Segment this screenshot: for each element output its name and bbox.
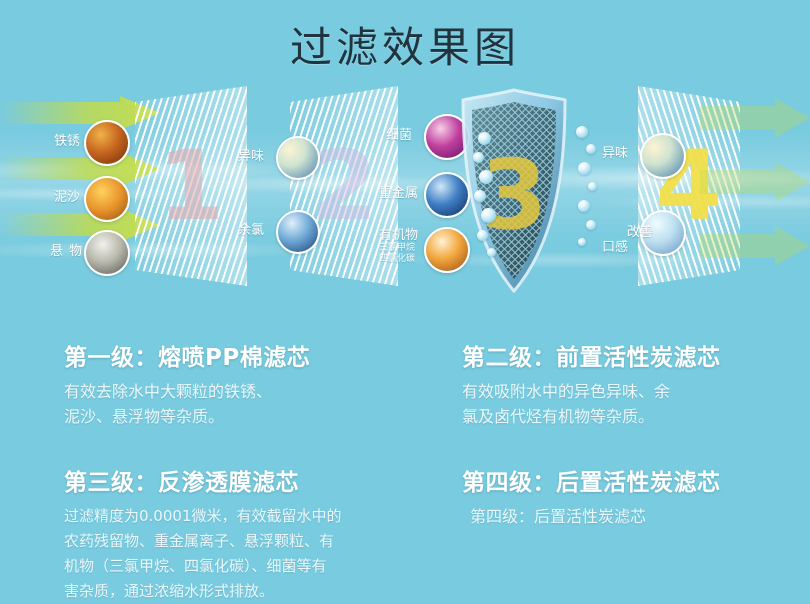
inflow-arrow-2 xyxy=(0,152,160,186)
bubble xyxy=(487,248,496,257)
stage-4-body: 第四级：后置活性炭滤芯 xyxy=(470,504,802,529)
panel-sheen-4 xyxy=(638,86,740,286)
diagram-label-xuanwu: 悬物 xyxy=(50,244,88,259)
diagram-label-text: 改善 口感 xyxy=(602,225,653,255)
diagram-label-text: 异味 xyxy=(602,146,628,161)
diagram-label-subtext: 三氯甲烷 四氯化碳 xyxy=(379,243,418,265)
diagram-label-yiwei-1: 异味 xyxy=(238,149,264,164)
panel-stripes-1 xyxy=(135,86,247,286)
poster-canvas: 过滤效果图 xyxy=(0,0,810,601)
bubble xyxy=(578,162,591,175)
diagram-label-tiexiu: 铁锈 xyxy=(54,134,80,149)
svg-text:3: 3 xyxy=(481,139,548,251)
diagram-label-text: 悬物 xyxy=(50,244,88,259)
bubble xyxy=(586,220,596,230)
panel-sheen-1 xyxy=(135,86,247,286)
chip-odor-microbe-photo-2 xyxy=(640,133,686,179)
bubble xyxy=(481,208,496,223)
stage-2-body: 有效吸附水中的异色异味、余 氯及卤代烃有机物等杂质。 xyxy=(462,379,802,429)
bubble xyxy=(479,170,493,184)
bubble xyxy=(478,132,491,145)
bubble xyxy=(588,182,597,191)
chip-odor-microbe-photo xyxy=(276,136,320,180)
filtration-diagram: 1 铁锈 泥沙 悬物 2 异味 xyxy=(0,80,810,295)
chip-residual-chlorine-photo xyxy=(276,210,320,254)
page-title: 过滤效果图 xyxy=(0,14,810,75)
chip-rust-particle-photo xyxy=(84,120,130,166)
panel-stripes-4 xyxy=(638,86,740,286)
stage-1-body: 有效去除水中大颗粒的铁锈、 泥沙、悬浮物等杂质。 xyxy=(64,379,404,429)
filter-panel-1: 1 xyxy=(135,86,247,286)
diagram-label-xijun: 细菌 xyxy=(386,128,412,143)
stage-4-heading: 第四级：后置活性炭滤芯 xyxy=(462,463,802,497)
chip-sediment-photo xyxy=(84,176,130,222)
stage-2-heading: 第二级：前置活性炭滤芯 xyxy=(462,338,802,372)
diagram-label-text: 细菌 xyxy=(386,128,412,143)
diagram-label-text: 泥沙 xyxy=(54,190,80,205)
bubble xyxy=(578,200,590,212)
diagram-label-yulv: 余氯 xyxy=(238,223,264,238)
outflow-arrow-3 xyxy=(700,226,810,266)
stage-number-1: 1 xyxy=(135,138,247,234)
chip-suspended-solids-photo xyxy=(84,230,130,276)
bubble xyxy=(473,152,484,163)
diagram-label-text: 铁锈 xyxy=(54,134,80,149)
diagram-label-youjiwu: 有机物 三氯甲烷 四氯化碳 xyxy=(379,228,418,265)
stage-text-block-3: 第三级：反渗透膜滤芯 过滤精度为0.0001微米，有效截留水中的 农药残留物、重… xyxy=(64,463,424,604)
diagram-label-text: 有机物 xyxy=(379,228,418,243)
bubble xyxy=(578,238,586,246)
outflow-arrow-1 xyxy=(700,98,810,138)
stage-3-heading: 第三级：反渗透膜滤芯 xyxy=(64,463,424,497)
stage-text-block-1: 第一级：熔喷PP棉滤芯 有效去除水中大颗粒的铁锈、 泥沙、悬浮物等杂质。 xyxy=(64,338,404,429)
filter-panel-4: 4 xyxy=(638,86,740,286)
diagram-label-gaishan-kougan: 改善 口感 xyxy=(602,210,653,270)
diagram-label-nisha: 泥沙 xyxy=(54,190,80,205)
outflow-arrow-2 xyxy=(700,162,810,202)
stage-3-body: 过滤精度为0.0001微米，有效截留水中的 农药残留物、重金属离子、悬浮颗粒、有… xyxy=(64,504,424,604)
diagram-label-text: 余氯 xyxy=(238,223,264,238)
bubble xyxy=(474,190,486,202)
stage-text-block-2: 第二级：前置活性炭滤芯 有效吸附水中的异色异味、余 氯及卤代烃有机物等杂质。 xyxy=(462,338,802,429)
inflow-arrow-1 xyxy=(0,96,160,130)
diagram-label-zhongjinshu: 重金属 xyxy=(379,186,418,201)
stage-1-heading: 第一级：熔喷PP棉滤芯 xyxy=(64,338,404,372)
diagram-label-yiwei-2: 异味 xyxy=(602,146,628,161)
inflow-arrow-3 xyxy=(0,208,160,242)
bubble xyxy=(477,230,488,241)
bubble xyxy=(586,144,596,154)
bubble xyxy=(576,126,588,138)
diagram-label-text: 重金属 xyxy=(379,186,418,201)
diagram-label-text: 异味 xyxy=(238,149,264,164)
stage-text-block-4: 第四级：后置活性炭滤芯 第四级：后置活性炭滤芯 xyxy=(462,463,802,529)
